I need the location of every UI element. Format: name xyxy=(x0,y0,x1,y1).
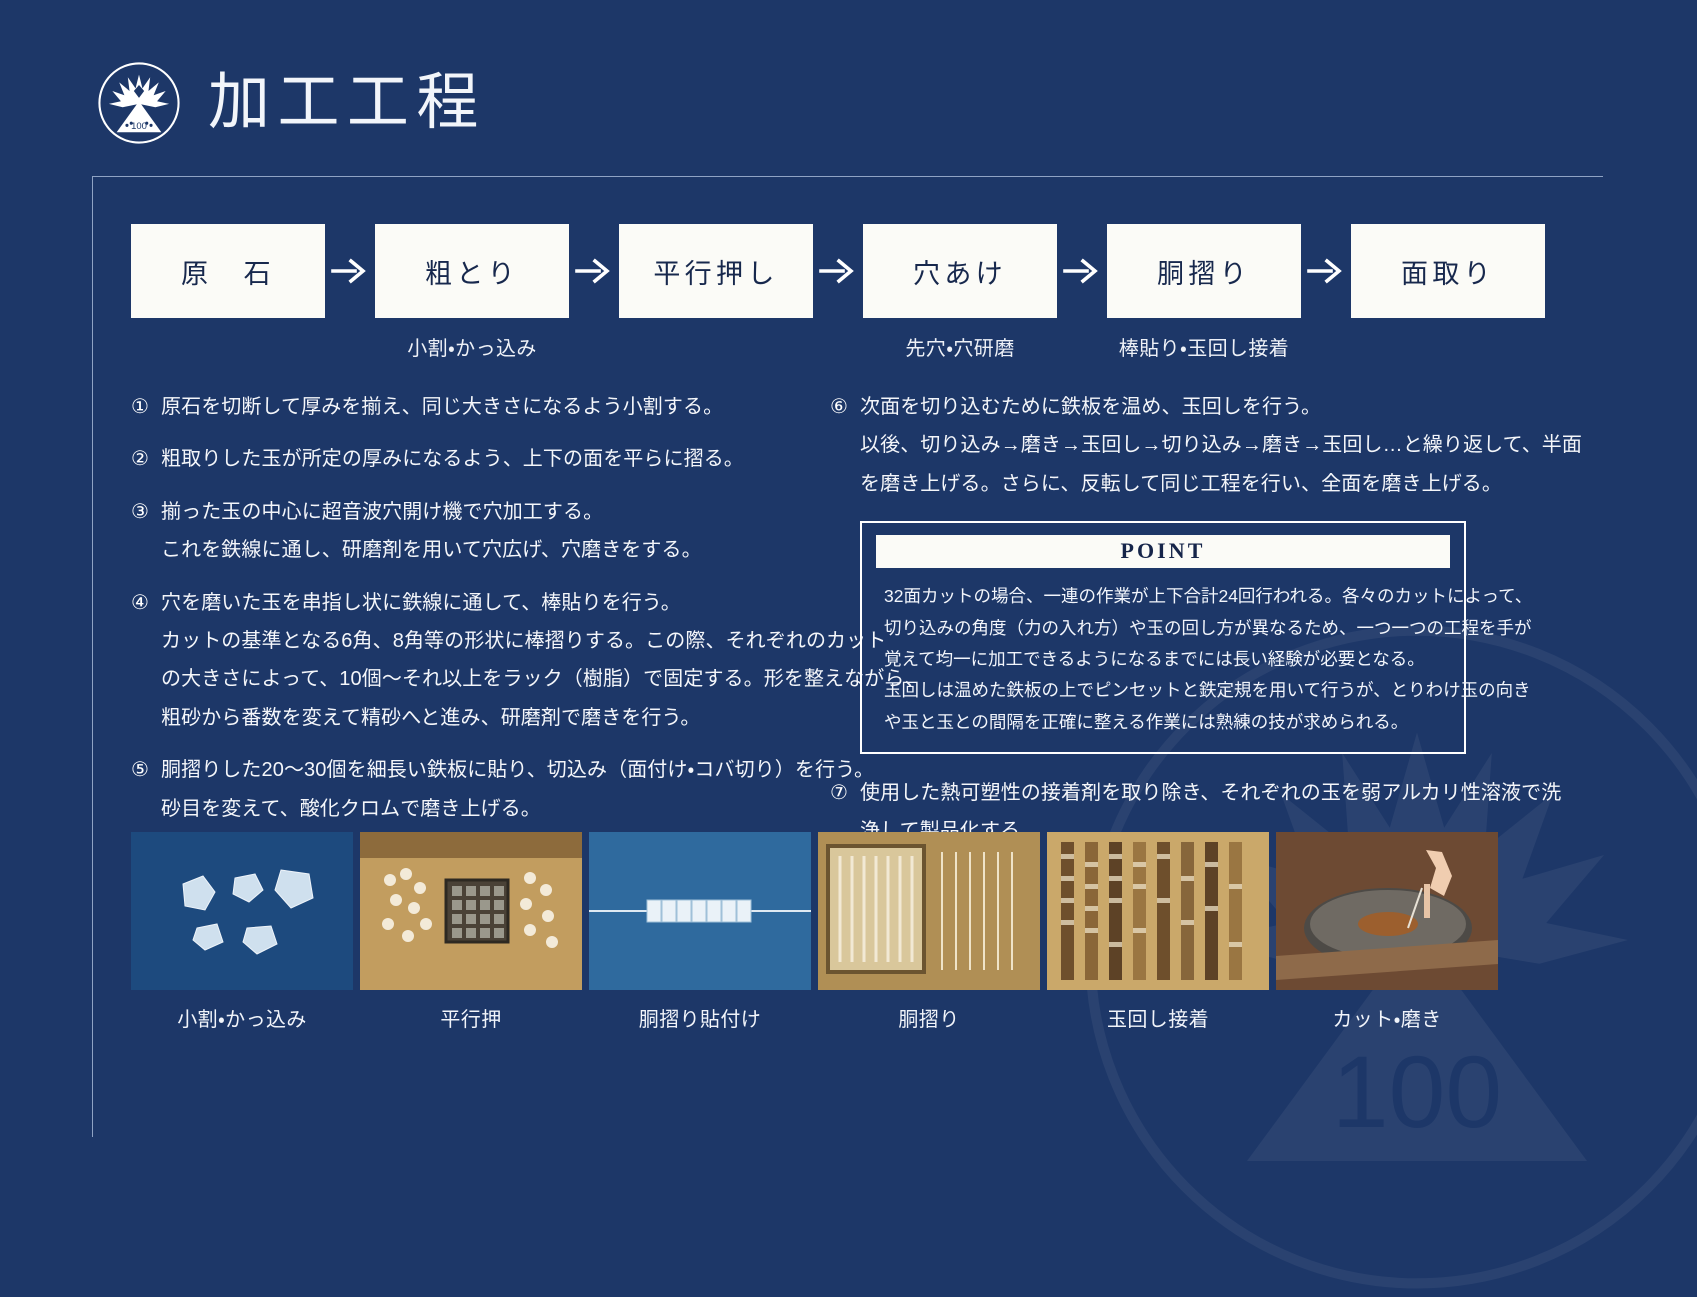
page-header: 100 加工工程 xyxy=(96,60,486,146)
flow-step-1: 原 石 xyxy=(131,224,325,356)
photo-caption: カット・磨き xyxy=(1332,1003,1441,1032)
step-text-line: 使用した熱可塑性の接着剤を取り除き、それぞれの玉を弱アルカリ性溶液で洗 xyxy=(860,778,1561,808)
step-text-line: の大きさによって、10個〜それ以上をラック（樹脂）で固定する。形を整えながら、 xyxy=(161,664,925,694)
point-header: POINT xyxy=(876,535,1450,568)
flow-step-2-box: 粗とり xyxy=(375,224,569,318)
photo-item-1: 小割・かっ込み xyxy=(131,832,353,1032)
step-item-2: ② 粗取りした玉が所定の厚みになるよう、上下の面を平らに摺る。 xyxy=(131,444,798,474)
step-item-5: ⑤ 胴摺りした20〜30個を細長い鉄板に貼り、切込み（面付け・コバ切り）を行う。… xyxy=(131,755,798,824)
step-number: ① xyxy=(131,392,161,422)
flow-arrow-2-icon xyxy=(569,224,619,318)
photo-strip: 小割・かっ込み xyxy=(131,832,1498,1032)
flow-step-6-box: 面取り xyxy=(1351,224,1545,318)
photo-caption: 小割・かっ込み xyxy=(177,1003,307,1032)
step-text-line: を磨き上げる。さらに、反転して同じ工程を行い、全面を磨き上げる。 xyxy=(860,469,1582,499)
step-number: ⑥ xyxy=(830,392,860,499)
photo-item-2: 平行押 xyxy=(360,832,582,1032)
left-column: ① 原石を切断して厚みを揃え、同じ大きさになるよう小割する。 ② 粗取りした玉が… xyxy=(131,392,798,869)
point-text-line: 玉回しは温めた鉄板の上でピンセットと鉄定規を用いて行うが、とりわけ玉の向き xyxy=(884,676,1444,704)
step-number: ⑤ xyxy=(131,755,161,824)
body-columns: ① 原石を切断して厚みを揃え、同じ大きさになるよう小割する。 ② 粗取りした玉が… xyxy=(131,392,1497,869)
step-text-line: 粗砂から番数を変えて精砂へと進み、研磨剤で磨きを行う。 xyxy=(161,703,925,733)
step-text-line: 原石を切断して厚みを揃え、同じ大きさになるよう小割する。 xyxy=(161,392,798,422)
step-item-6: ⑥ 次面を切り込むために鉄板を温め、玉回しを行う。 以後、切り込み→磨き→玉回し… xyxy=(830,392,1497,499)
process-flow-diagram: 原 石 粗とり 小割・かっ込み 平行押し 穴あけ 先穴・穴研磨 胴摺り 棒貼り・… xyxy=(131,224,1545,356)
step-text-line: 次面を切り込むために鉄板を温め、玉回しを行う。 xyxy=(860,392,1582,422)
step-text: 揃った玉の中心に超音波穴開け機で穴加工する。 これを鉄線に通し、研磨剤を用いて穴… xyxy=(161,497,798,566)
photo-item-6: カット・磨き xyxy=(1276,832,1498,1032)
step-text: 穴を磨いた玉を串指し状に鉄線に通して、棒貼りを行う。 カットの基準となる6角、8… xyxy=(161,588,925,734)
flow-step-6: 面取り xyxy=(1351,224,1545,356)
step-text-line: 砂目を変えて、酸化クロムで磨き上げる。 xyxy=(161,794,874,824)
flow-step-1-box: 原 石 xyxy=(131,224,325,318)
step-text: 胴摺りした20〜30個を細長い鉄板に貼り、切込み（面付け・コバ切り）を行う。 砂… xyxy=(161,755,874,824)
point-text-line: 覚えて均一に加工できるようになるまでには長い経験が必要となる。 xyxy=(884,645,1444,673)
point-text-line: 32面カットの場合、一連の作業が上下合計24回行われる。各々のカットによって、 xyxy=(884,582,1444,610)
flow-arrow-1-icon xyxy=(325,224,375,318)
step-text: 原石を切断して厚みを揃え、同じ大きさになるよう小割する。 xyxy=(161,392,798,422)
photo-beads-on-wire-strip xyxy=(589,832,811,990)
flow-step-2: 粗とり 小割・かっ込み xyxy=(375,224,569,356)
step-text-line: 胴摺りした20〜30個を細長い鉄板に貼り、切込み（面付け・コバ切り）を行う。 xyxy=(161,755,874,785)
point-body: 32面カットの場合、一連の作業が上下合計24回行われる。各々のカットによって、 … xyxy=(876,568,1450,736)
page-title: 加工工程 xyxy=(208,72,486,134)
photo-caption: 平行押 xyxy=(440,1003,501,1032)
step-number: ② xyxy=(131,444,161,474)
flow-step-4: 穴あけ 先穴・穴研磨 xyxy=(863,224,1057,356)
right-column: ⑥ 次面を切り込むために鉄板を温め、玉回しを行う。 以後、切り込み→磨き→玉回し… xyxy=(830,392,1497,869)
flow-arrow-3-icon xyxy=(813,224,863,318)
flow-step-3: 平行押し xyxy=(619,224,813,356)
flow-step-3-box: 平行押し xyxy=(619,224,813,318)
photo-caption: 胴摺り xyxy=(898,1003,959,1032)
flow-arrow-4-icon xyxy=(1057,224,1107,318)
photo-bead-rows-on-board xyxy=(1047,832,1269,990)
photo-beads-on-wood-board xyxy=(360,832,582,990)
point-text-line: 切り込みの角度（力の入れ方）や玉の回し方が異なるため、一つ一つの工程を手が xyxy=(884,614,1444,642)
step-number: ③ xyxy=(131,497,161,566)
step-text-line: 穴を磨いた玉を串指し状に鉄線に通して、棒貼りを行う。 xyxy=(161,588,925,618)
photo-raw-stones-on-blue xyxy=(131,832,353,990)
step-number: ④ xyxy=(131,588,161,734)
step-text-line: 以後、切り込み→磨き→玉回し→切り込み→磨き→玉回し…と繰り返して、半面 xyxy=(860,430,1582,460)
photo-item-3: 胴摺り貼付け xyxy=(589,832,811,1032)
flow-step-5-sub: 棒貼り・玉回し接着 xyxy=(1119,332,1289,356)
step-item-1: ① 原石を切断して厚みを揃え、同じ大きさになるよう小割する。 xyxy=(131,392,798,422)
photo-hand-on-polishing-wheel xyxy=(1276,832,1498,990)
step-item-4: ④ 穴を磨いた玉を串指し状に鉄線に通して、棒貼りを行う。 カットの基準となる6角… xyxy=(131,588,798,734)
flow-step-2-sub: 小割・かっ込み xyxy=(407,332,537,356)
step-text: 粗取りした玉が所定の厚みになるよう、上下の面を平らに摺る。 xyxy=(161,444,798,474)
step-text-line: これを鉄線に通し、研磨剤を用いて穴広げ、穴磨きをする。 xyxy=(161,535,798,565)
photo-caption: 胴摺り貼付け xyxy=(639,1003,761,1032)
step-text-line: 揃った玉の中心に超音波穴開け機で穴加工する。 xyxy=(161,497,798,527)
flow-step-4-sub: 先穴・穴研磨 xyxy=(905,332,1014,356)
photo-item-5: 玉回し接着 xyxy=(1047,832,1269,1032)
photo-caption: 玉回し接着 xyxy=(1107,1003,1209,1032)
step-item-3: ③ 揃った玉の中心に超音波穴開け機で穴加工する。 これを鉄線に通し、研磨剤を用い… xyxy=(131,497,798,566)
flow-step-5: 胴摺り 棒貼り・玉回し接着 xyxy=(1107,224,1301,356)
point-callout-box: POINT 32面カットの場合、一連の作業が上下合計24回行われる。各々のカット… xyxy=(860,521,1466,754)
photo-rods-in-wooden-tray xyxy=(818,832,1040,990)
step-text-line: カットの基準となる6角、8角等の形状に棒摺りする。この際、それぞれのカット xyxy=(161,626,925,656)
flow-step-5-box: 胴摺り xyxy=(1107,224,1301,318)
flow-step-4-box: 穴あけ xyxy=(863,224,1057,318)
photo-item-4: 胴摺り xyxy=(818,832,1040,1032)
step-text-line: 粗取りした玉が所定の厚みになるよう、上下の面を平らに摺る。 xyxy=(161,444,798,474)
step-text: 次面を切り込むために鉄板を温め、玉回しを行う。 以後、切り込み→磨き→玉回し→切… xyxy=(860,392,1582,499)
flow-arrow-5-icon xyxy=(1301,224,1351,318)
point-text-line: や玉と玉との間隔を正確に整える作業には熟練の技が求められる。 xyxy=(884,708,1444,736)
mount-fuji-gem-logo-icon: 100 xyxy=(96,60,182,146)
logo-number-text: 100 xyxy=(131,121,147,132)
